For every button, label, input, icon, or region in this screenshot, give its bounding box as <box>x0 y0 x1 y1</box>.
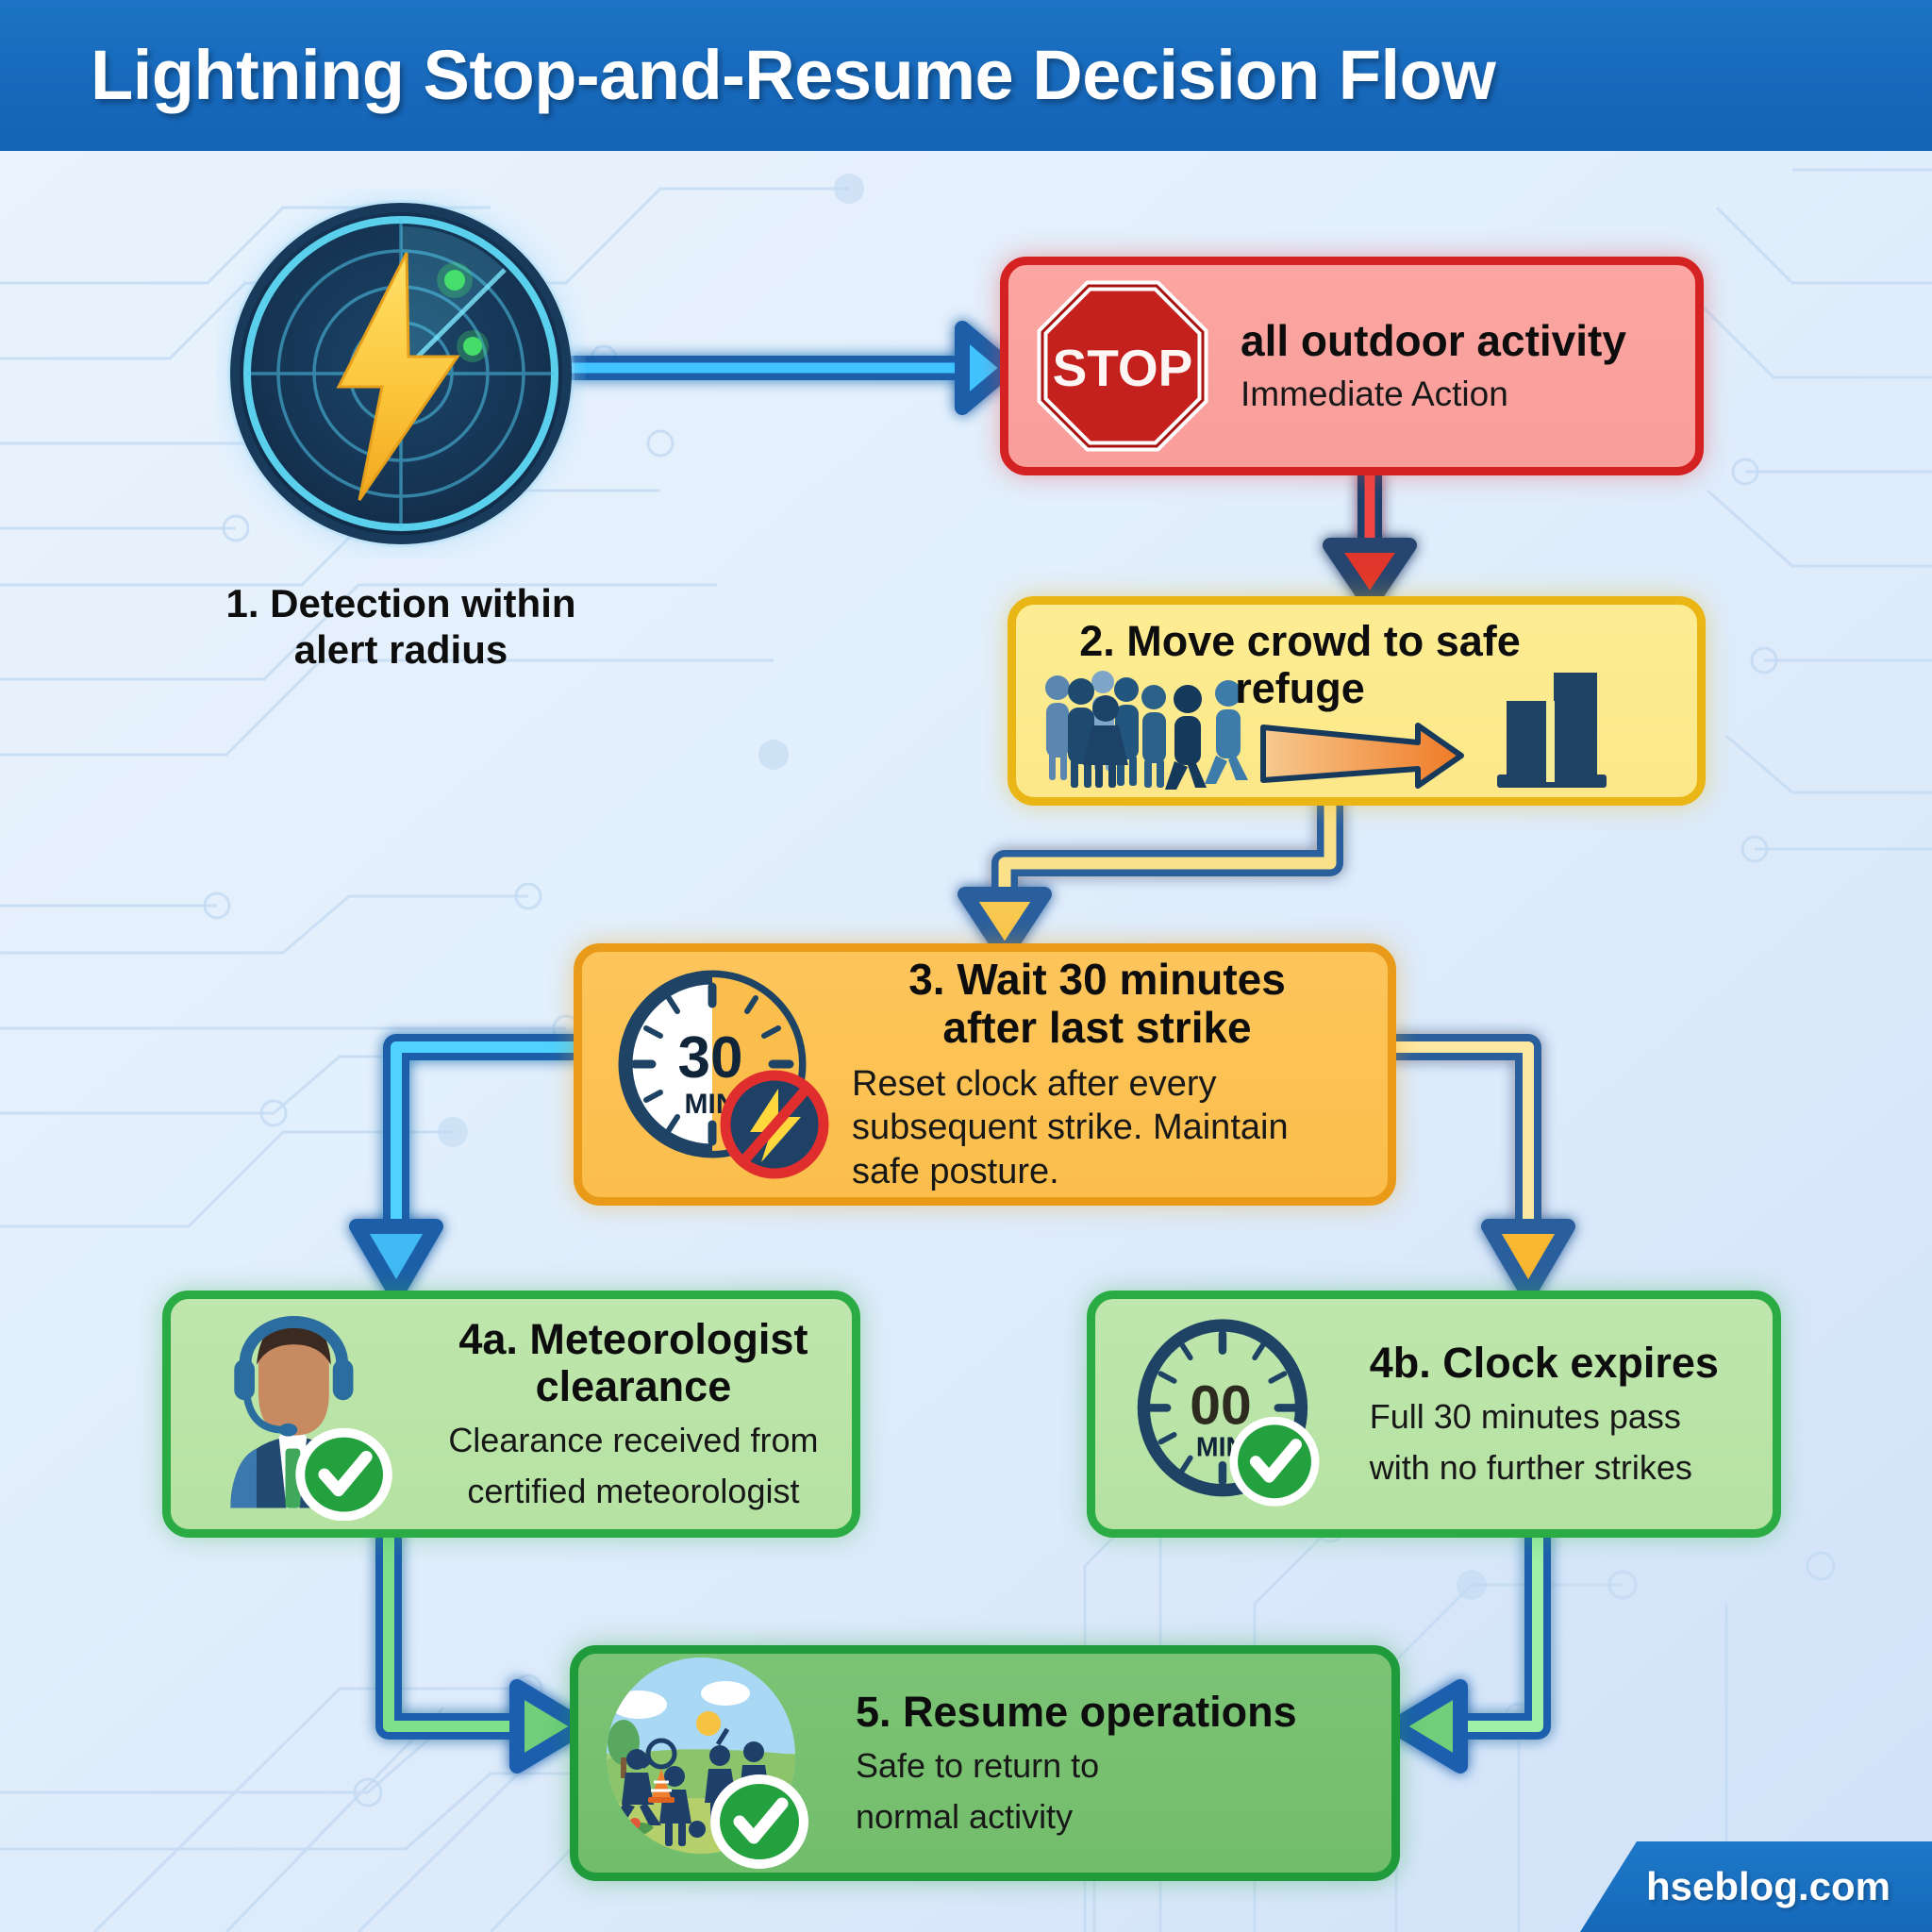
page-title: Lightning Stop-and-Resume Decision Flow <box>91 41 1495 110</box>
orange-arrow-icon <box>1263 725 1461 786</box>
title-banner: Lightning Stop-and-Resume Decision Flow <box>0 0 1932 151</box>
met-title-line1: 4a. Meteorologist <box>415 1316 852 1363</box>
node-detection[interactable]: 1. Detection within alert radius <box>193 189 608 679</box>
detection-label-line1: 1. Detection within <box>193 581 608 627</box>
node-move-crowd[interactable]: 2. Move crowd to safe refuge <box>1008 596 1706 806</box>
clock-00-min-icon: 00 MIN <box>1133 1309 1332 1519</box>
stop-sign-text: STOP <box>1053 339 1193 397</box>
connector-refuge-to-wait <box>965 802 1330 955</box>
met-subtitle-line1: Clearance received from <box>415 1420 852 1461</box>
connector-meteorologist-to-resume <box>389 1534 583 1766</box>
stop-sign-icon: STOP <box>1037 280 1208 452</box>
expire-title: 4b. Clock expires <box>1370 1340 1773 1387</box>
node-resume-operations[interactable]: 5. Resume operations Safe to return to n… <box>570 1645 1400 1881</box>
green-check-icon <box>710 1774 808 1869</box>
stop-subtitle: Immediate Action <box>1241 373 1626 415</box>
detection-label: 1. Detection within alert radius <box>193 581 608 673</box>
park-activity-icon <box>603 1656 825 1871</box>
site-badge-label: hseblog.com <box>1646 1864 1890 1909</box>
expire-subtitle-line2: with no further strikes <box>1370 1447 1773 1489</box>
expire-clock-value: 00 <box>1190 1374 1251 1436</box>
connector-wait-to-meteorologist <box>357 1047 572 1294</box>
refuge-title-line1: 2. Move crowd to safe <box>1016 618 1697 665</box>
radar-lightning-icon <box>216 189 586 558</box>
green-check-icon <box>295 1428 391 1521</box>
wait-title-line1: 3. Wait 30 minutes <box>852 956 1342 1005</box>
infographic-canvas: Lightning Stop-and-Resume Decision Flow <box>0 0 1932 1932</box>
site-badge[interactable]: hseblog.com <box>1580 1841 1932 1932</box>
resume-subtitle-line2: normal activity <box>856 1796 1299 1838</box>
met-title-line2: clearance <box>415 1363 852 1410</box>
no-lightning-icon <box>725 1075 824 1174</box>
detection-label-line2: alert radius <box>193 627 608 674</box>
green-check-icon <box>1230 1417 1320 1507</box>
expire-subtitle-line1: Full 30 minutes pass <box>1370 1396 1773 1438</box>
node-meteorologist-clearance[interactable]: 4a. Meteorologist clearance Clearance re… <box>162 1291 860 1538</box>
node-stop-activity[interactable]: STOP all outdoor activity Immediate Acti… <box>1000 257 1704 475</box>
connector-stop-to-refuge <box>1330 472 1409 604</box>
wait-title-line2: after last strike <box>852 1004 1342 1053</box>
wait-subtitle: Reset clock after every subsequent strik… <box>852 1062 1342 1193</box>
stop-title: all outdoor activity <box>1241 317 1626 366</box>
node-clock-expires[interactable]: 00 MIN 4b. Clock expires Full 30 minutes… <box>1087 1291 1781 1538</box>
clock-30-min-icon: 30 MIN <box>607 962 831 1187</box>
resume-title: 5. Resume operations <box>856 1689 1299 1736</box>
meteorologist-headset-icon <box>190 1307 394 1521</box>
met-subtitle-line2: certified meteorologist <box>415 1471 852 1512</box>
node-wait-30-minutes[interactable]: 30 MIN 3. Wait 30 minutes after last str… <box>574 943 1396 1206</box>
connector-detection-to-stop <box>566 328 1009 408</box>
refuge-title-line2: refuge <box>1016 665 1697 712</box>
wait-clock-value: 30 <box>678 1025 743 1091</box>
resume-subtitle-line1: Safe to return to <box>856 1745 1299 1787</box>
connector-wait-to-expires <box>1396 1047 1568 1294</box>
connector-expires-to-resume <box>1394 1534 1538 1766</box>
